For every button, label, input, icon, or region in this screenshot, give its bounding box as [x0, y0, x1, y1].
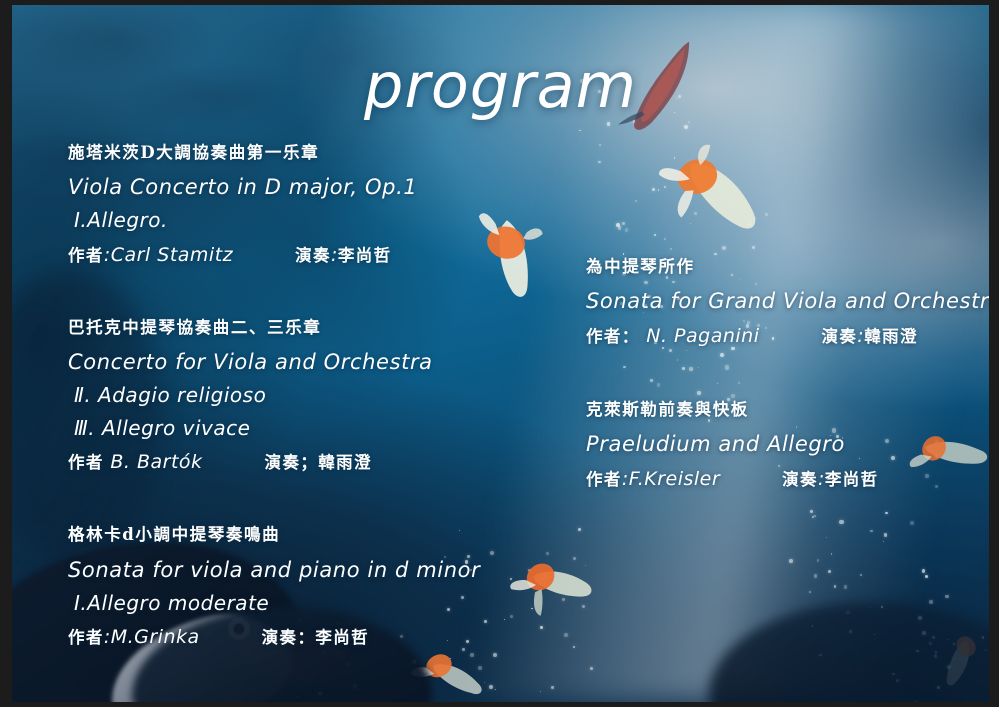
entry-credits: 作者:M.Grinka演奏：李尚哲 — [68, 621, 498, 654]
entry-title-en: Sonata for Grand Viola and Orchestra — [586, 284, 986, 318]
entry-performer: 演奏；韓雨澄 — [265, 446, 372, 479]
entry-credits: 作者:Carl Stamitz演奏:李尚哲 — [68, 239, 498, 272]
program-entry: 為中提琴所作Sonata for Grand Viola and Orchest… — [586, 251, 986, 354]
program-entry: 施塔米茨D大調協奏曲第一乐章Viola Concerto in D major,… — [68, 137, 498, 272]
entry-title-cn: 巴托克中提琴協奏曲二、三乐章 — [68, 312, 498, 343]
presentation-slide: program 施塔米茨D大調協奏曲第一乐章Viola Concerto in … — [0, 0, 999, 707]
entry-movement: Ⅱ. Adagio religioso — [68, 379, 498, 411]
entry-title-cn: 克萊斯勒前奏與快板 — [586, 394, 986, 425]
entry-composer: 作者:F.Kreisler — [586, 463, 720, 496]
page-title: program — [12, 49, 989, 122]
entry-composer: 作者:Carl Stamitz — [68, 239, 233, 272]
entry-performer: 演奏:李尚哲 — [295, 239, 391, 272]
entry-title-en: Sonata for viola and piano in d minor — [68, 553, 498, 587]
entry-title-cn: 為中提琴所作 — [586, 251, 986, 282]
entry-title-en: Viola Concerto in D major, Op.1 — [68, 170, 498, 204]
entry-composer: 作者:M.Grinka — [68, 621, 200, 654]
program-entry: 克萊斯勒前奏與快板Praeludium and Allegro作者:F.Krei… — [586, 394, 986, 497]
entry-title-cn: 格林卡d小調中提琴奏鳴曲 — [68, 519, 498, 550]
entry-credits: 作者： N. Paganini演奏:韓雨澄 — [586, 320, 986, 353]
program-column-right: 為中提琴所作Sonata for Grand Viola and Orchest… — [586, 251, 986, 496]
entry-credits: 作者 B. Bartók演奏；韓雨澄 — [68, 446, 498, 479]
program-column-left: 施塔米茨D大調協奏曲第一乐章Viola Concerto in D major,… — [68, 137, 498, 654]
program-entry: 巴托克中提琴協奏曲二、三乐章Concerto for Viola and Orc… — [68, 312, 498, 479]
program-entry: 格林卡d小調中提琴奏鳴曲Sonata for viola and piano i… — [68, 519, 498, 654]
entry-title-en: Concerto for Viola and Orchestra — [68, 345, 498, 379]
entry-performer: 演奏:韓雨澄 — [821, 320, 917, 353]
entry-movement: Ⅲ. Allegro vivace — [68, 412, 498, 444]
entry-performer: 演奏：李尚哲 — [262, 621, 369, 654]
entry-title-cn: 施塔米茨D大調協奏曲第一乐章 — [68, 137, 498, 168]
entry-movement: Ⅰ.Allegro moderate — [68, 587, 498, 619]
entry-movement: Ⅰ.Allegro. — [68, 204, 498, 236]
entry-composer: 作者 B. Bartók — [68, 446, 203, 479]
entry-title-en: Praeludium and Allegro — [586, 427, 986, 461]
entry-performer: 演奏:李尚哲 — [782, 463, 878, 496]
entry-composer: 作者： N. Paganini — [586, 320, 759, 353]
entry-credits: 作者:F.Kreisler演奏:李尚哲 — [586, 463, 986, 496]
